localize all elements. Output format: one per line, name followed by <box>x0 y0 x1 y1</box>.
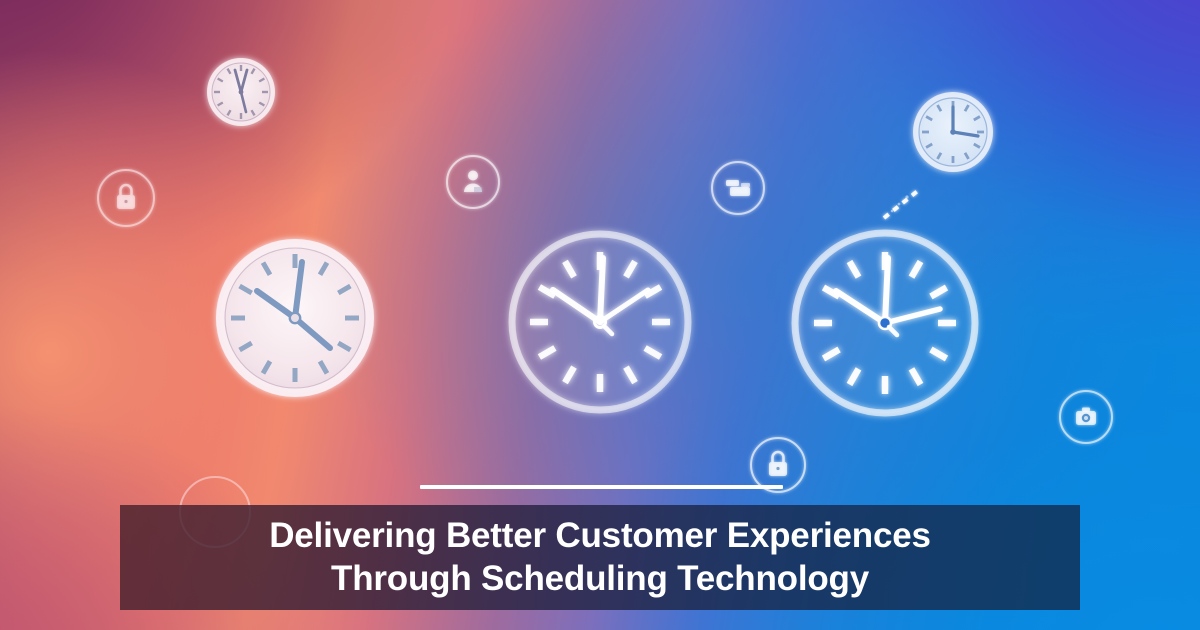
clock-large-right <box>795 233 975 413</box>
badge-lock-bottom <box>751 438 805 492</box>
dashed-link-right-small <box>884 189 920 218</box>
title-accent-rule <box>420 485 783 489</box>
clock-small-top-left <box>207 58 275 126</box>
page-title-line-1: Delivering Better Customer Experiences <box>269 515 931 558</box>
clock-small-top-right <box>913 92 993 172</box>
clock-large-center <box>512 234 688 410</box>
badge-user <box>447 156 499 208</box>
hero-banner: Delivering Better Customer Experiences T… <box>0 0 1200 630</box>
badge-lock-left <box>98 170 154 226</box>
device-icon <box>726 180 750 196</box>
page-title-line-2: Through Scheduling Technology <box>331 558 869 601</box>
badge-device <box>712 162 764 214</box>
title-band: Delivering Better Customer Experiences T… <box>120 505 1080 610</box>
badge-camera <box>1060 391 1112 443</box>
clock-large-left <box>216 239 374 397</box>
